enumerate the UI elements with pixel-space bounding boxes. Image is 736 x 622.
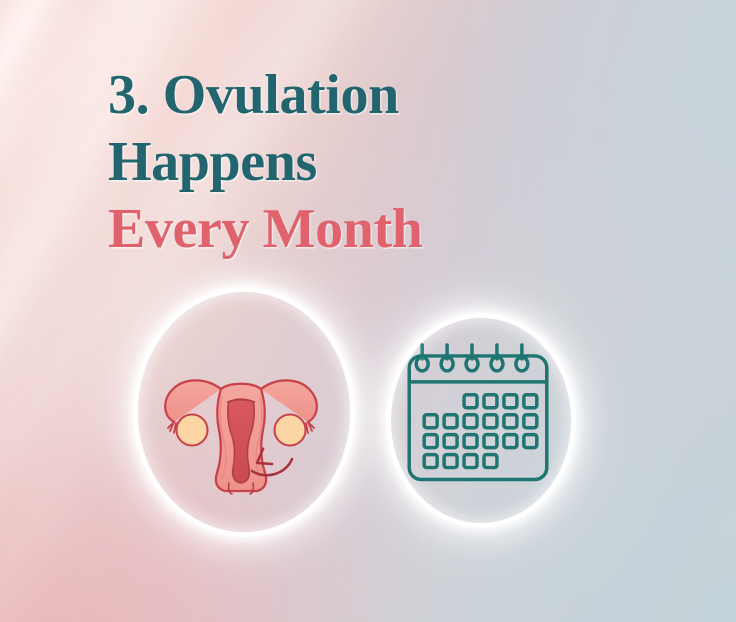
headline-line-1: 3. Ovulation (108, 62, 628, 129)
headline-line-2: Happens (108, 129, 628, 196)
poster-canvas: 3. Ovulation Happens Every Month (0, 0, 736, 622)
calendar-spiral-rings (416, 345, 528, 371)
headline-line-3: Every Month (108, 196, 628, 263)
calendar-day-row-4 (424, 455, 497, 468)
uterus-ovary-icon (146, 360, 336, 495)
calendar-icon (403, 336, 553, 488)
headline-block: 3. Ovulation Happens Every Month (108, 62, 628, 263)
calendar-day-row-2 (424, 415, 537, 428)
calendar-day-row-1 (464, 395, 537, 408)
calendar-day-row-3 (424, 435, 537, 448)
